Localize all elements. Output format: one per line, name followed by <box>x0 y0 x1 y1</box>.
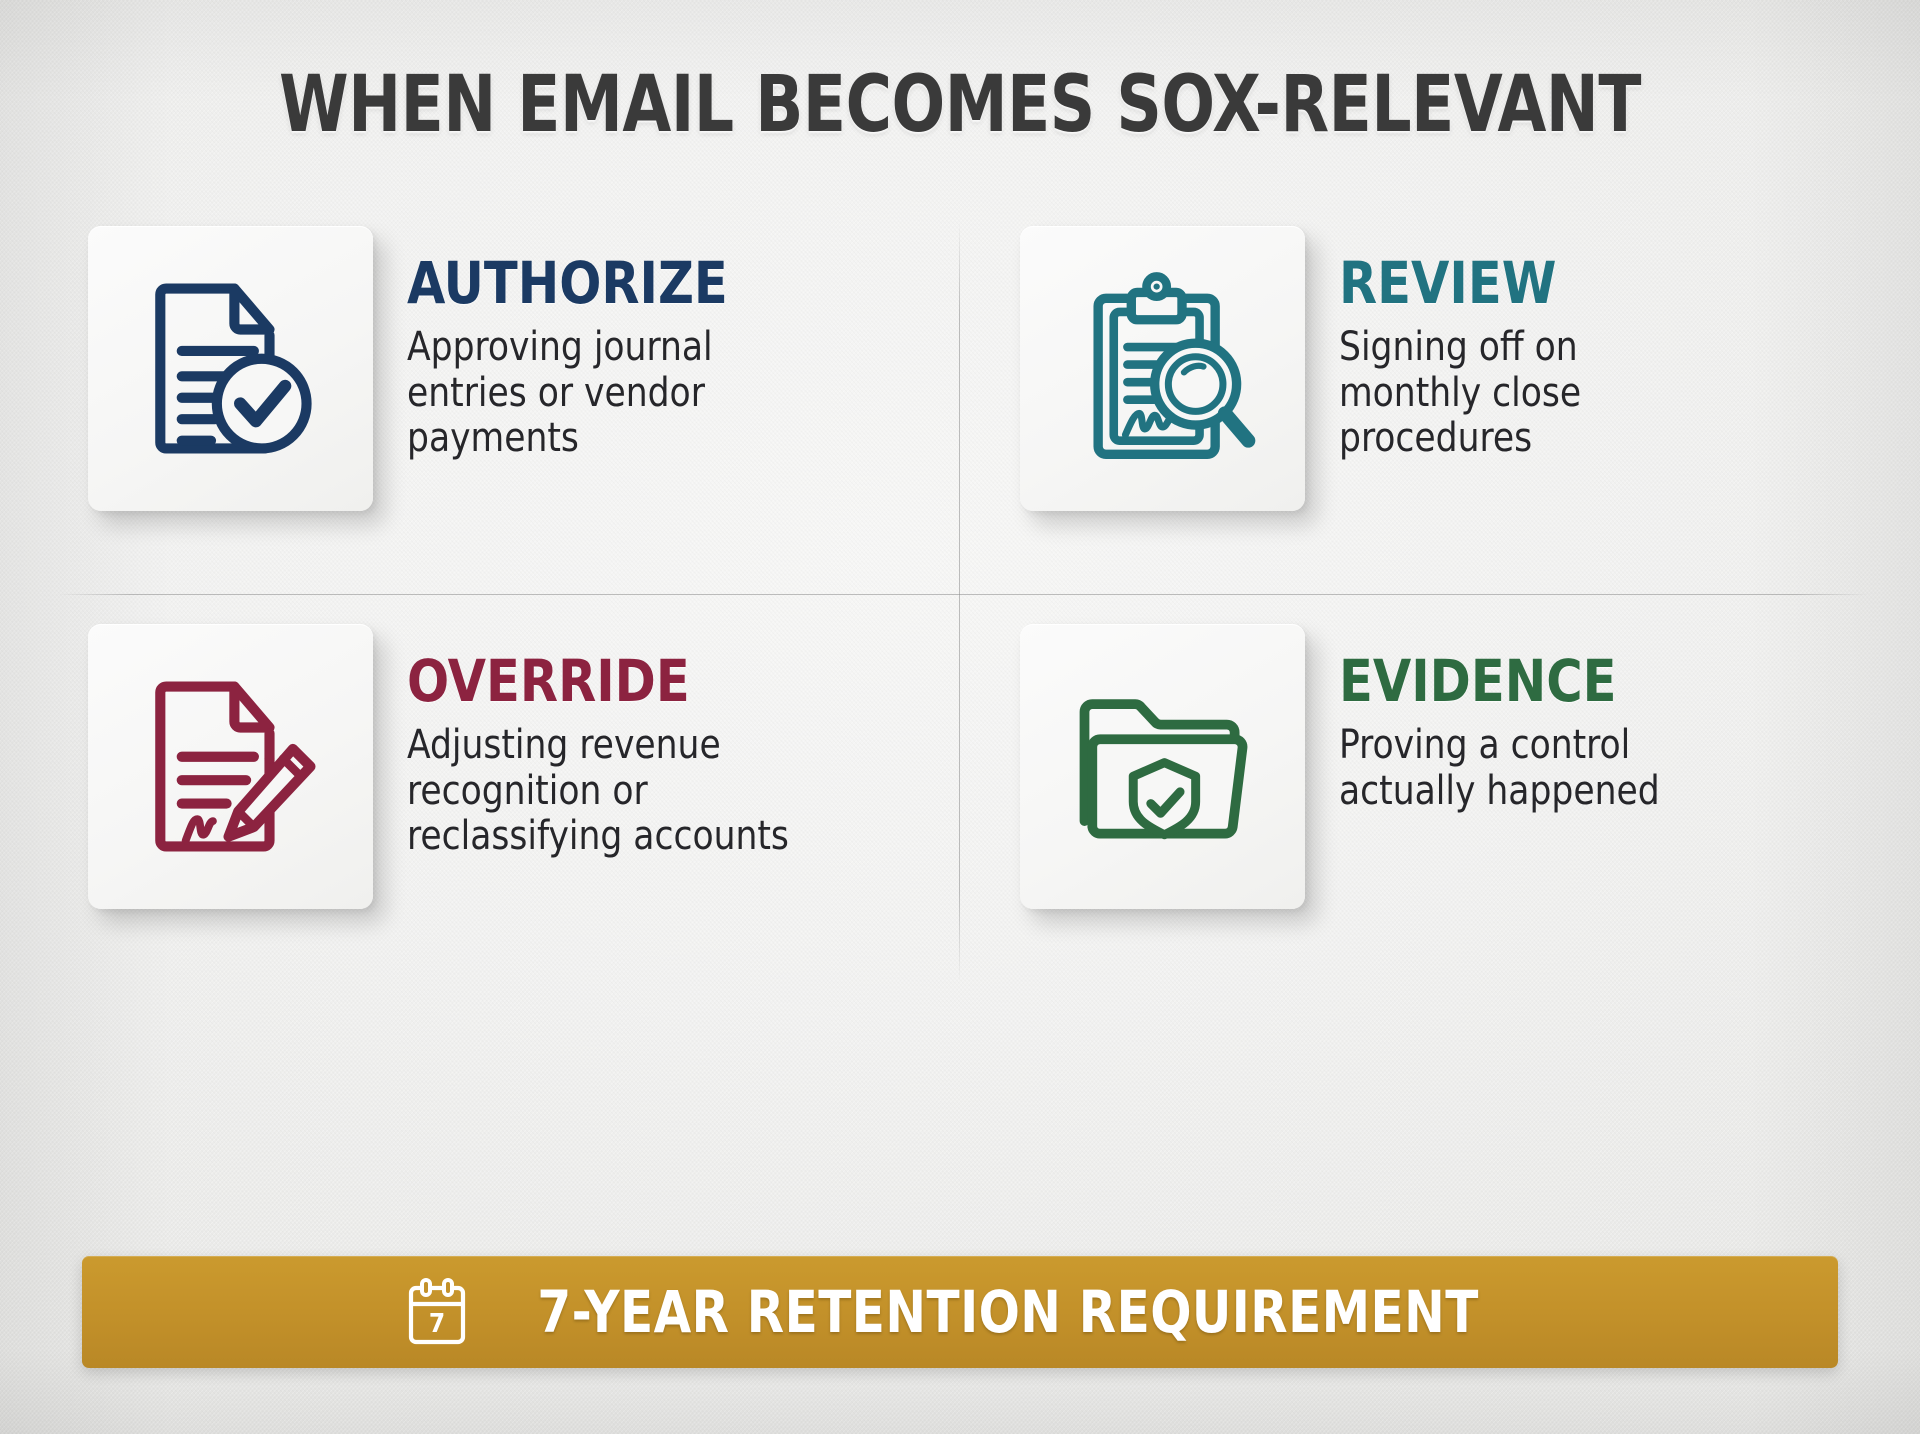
horizontal-divider <box>58 594 1868 595</box>
authorize-icon-card <box>88 226 373 511</box>
evidence-text-block: EVIDENCE Proving a control actually happ… <box>1339 624 1739 814</box>
quadrant-review: REVIEW Signing off on monthly close proc… <box>1020 226 1850 511</box>
authorize-body: Approving journal entries or vendor paym… <box>407 325 791 462</box>
document-pencil-signature-icon <box>133 669 328 864</box>
calendar-icon: 7 <box>406 1277 468 1347</box>
override-text-block: OVERRIDE Adjusting revenue recognition o… <box>407 624 807 860</box>
evidence-heading: EVIDENCE <box>1339 652 1719 711</box>
document-check-icon <box>133 271 328 466</box>
evidence-icon-card <box>1020 624 1305 909</box>
quadrant-override: OVERRIDE Adjusting revenue recognition o… <box>88 624 918 909</box>
override-body: Adjusting revenue recognition or reclass… <box>407 723 791 860</box>
override-heading: OVERRIDE <box>407 652 787 711</box>
page-title: WHEN EMAIL BECOMES SOX-RELEVANT <box>96 66 1824 144</box>
vertical-divider <box>959 222 960 982</box>
retention-banner: 7 7-YEAR RETENTION REQUIREMENT <box>82 1256 1838 1368</box>
calendar-number: 7 <box>429 1309 445 1339</box>
override-icon-card <box>88 624 373 909</box>
review-text-block: REVIEW Signing off on monthly close proc… <box>1339 226 1739 462</box>
folder-shield-check-icon <box>1065 669 1260 864</box>
clipboard-magnifier-signature-icon <box>1065 271 1260 466</box>
quadrant-authorize: AUTHORIZE Approving journal entries or v… <box>88 226 918 511</box>
review-icon-card <box>1020 226 1305 511</box>
authorize-text-block: AUTHORIZE Approving journal entries or v… <box>407 226 807 462</box>
review-heading: REVIEW <box>1339 254 1719 313</box>
authorize-heading: AUTHORIZE <box>407 254 787 313</box>
quadrant-evidence: EVIDENCE Proving a control actually happ… <box>1020 624 1850 909</box>
infographic-canvas: WHEN EMAIL BECOMES SOX-RELEVANT <box>0 0 1920 1434</box>
quadrant-grid: AUTHORIZE Approving journal entries or v… <box>70 212 1850 992</box>
review-body: Signing off on monthly close procedures <box>1339 325 1723 462</box>
evidence-body: Proving a control actually happened <box>1339 723 1723 814</box>
retention-banner-text: 7-YEAR RETENTION REQUIREMENT <box>537 1283 1478 1341</box>
